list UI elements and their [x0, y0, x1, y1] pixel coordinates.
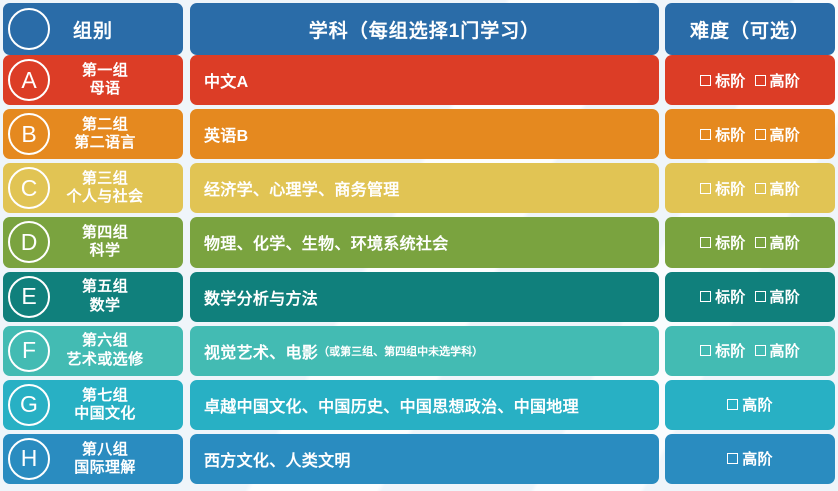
- cell-subject: 中文A: [190, 55, 659, 105]
- cell-difficulty: 标阶高阶: [665, 272, 835, 322]
- cell-difficulty: 标阶高阶: [665, 55, 835, 105]
- difficulty-option-label: 高阶: [770, 178, 800, 199]
- cell-difficulty: 标阶高阶: [665, 163, 835, 213]
- group-letter-badge: G: [8, 384, 50, 426]
- checkbox-empty-icon[interactable]: [700, 291, 711, 302]
- checkbox-empty-icon[interactable]: [727, 399, 738, 410]
- cell-group: D第四组 科学: [3, 217, 183, 267]
- difficulty-option-higher[interactable]: 高阶: [727, 394, 772, 415]
- difficulty-option-higher[interactable]: 高阶: [755, 124, 800, 145]
- difficulty-option-higher[interactable]: 高阶: [755, 70, 800, 91]
- group-letter-badge: B: [8, 113, 50, 155]
- checkbox-empty-icon[interactable]: [727, 453, 738, 464]
- group-letter-badge: E: [8, 276, 50, 318]
- difficulty-option-standard[interactable]: 标阶: [700, 340, 745, 361]
- cell-difficulty: 标阶高阶: [665, 109, 835, 159]
- difficulty-option-label: 标阶: [715, 286, 745, 307]
- cell-group: F第六组 艺术或选修: [3, 326, 183, 376]
- table-row: E第五组 数学数学分析与方法标阶高阶: [3, 272, 835, 322]
- group-letter-badge: F: [8, 330, 50, 372]
- difficulty-option-higher[interactable]: 高阶: [727, 448, 772, 469]
- cell-subject: 视觉艺术、电影（或第三组、第四组中未选学科）: [190, 326, 659, 376]
- checkbox-empty-icon[interactable]: [700, 129, 711, 140]
- cell-group: A第一组 母语: [3, 55, 183, 105]
- header-cell-subject: 学科（每组选择1门学习）: [190, 3, 659, 55]
- subject-label: 西方文化、人类文明: [204, 447, 351, 471]
- group-letter-badge: D: [8, 221, 50, 263]
- cell-difficulty: 标阶高阶: [665, 217, 835, 267]
- subject-label: 数学分析与方法: [204, 285, 318, 309]
- group-name-label: 第五组 数学: [41, 278, 169, 315]
- difficulty-option-label: 高阶: [742, 448, 772, 469]
- header-cell-difficulty: 难度（可选）: [665, 3, 835, 55]
- cell-difficulty: 标阶高阶: [665, 326, 835, 376]
- difficulty-option-standard[interactable]: 标阶: [700, 70, 745, 91]
- group-letter-badge: H: [8, 438, 50, 480]
- cell-subject: 西方文化、人类文明: [190, 434, 659, 484]
- cell-subject: 经济学、心理学、商务管理: [190, 163, 659, 213]
- cell-group: C第三组 个人与社会: [3, 163, 183, 213]
- table-row: D第四组 科学物理、化学、生物、环境系统社会标阶高阶: [3, 217, 835, 267]
- subject-label: 经济学、心理学、商务管理: [204, 176, 400, 200]
- difficulty-option-standard[interactable]: 标阶: [700, 286, 745, 307]
- difficulty-option-label: 高阶: [770, 340, 800, 361]
- difficulty-option-standard[interactable]: 标阶: [700, 178, 745, 199]
- checkbox-empty-icon[interactable]: [755, 291, 766, 302]
- cell-difficulty: 高阶: [665, 434, 835, 484]
- difficulty-option-label: 高阶: [770, 286, 800, 307]
- group-name-label: 第一组 母语: [41, 62, 169, 99]
- group-name-label: 第六组 艺术或选修: [41, 332, 169, 369]
- ib-subject-groups-table: 组别 学科（每组选择1门学习） 难度（可选） A第一组 母语中文A标阶高阶B第二…: [0, 0, 838, 491]
- checkbox-empty-icon[interactable]: [755, 183, 766, 194]
- difficulty-option-label: 标阶: [715, 232, 745, 253]
- subject-label: 英语B: [204, 122, 248, 146]
- difficulty-option-label: 高阶: [770, 124, 800, 145]
- cell-group: H第八组 国际理解: [3, 434, 183, 484]
- table-row: H第八组 国际理解西方文化、人类文明高阶: [3, 434, 835, 484]
- group-name-label: 第七组 中国文化: [41, 387, 169, 424]
- group-letter-badge: A: [8, 59, 50, 101]
- subject-label: 视觉艺术、电影: [204, 339, 318, 363]
- difficulty-option-label: 标阶: [715, 340, 745, 361]
- table-row: B第二组 第二语言英语B标阶高阶: [3, 109, 835, 159]
- difficulty-option-label: 标阶: [715, 70, 745, 91]
- checkbox-empty-icon[interactable]: [700, 183, 711, 194]
- table-row: C第三组 个人与社会经济学、心理学、商务管理标阶高阶: [3, 163, 835, 213]
- header-label-difficulty: 难度（可选）: [665, 16, 835, 43]
- checkbox-empty-icon[interactable]: [755, 237, 766, 248]
- checkbox-empty-icon[interactable]: [700, 237, 711, 248]
- checkbox-empty-icon[interactable]: [755, 129, 766, 140]
- difficulty-option-higher[interactable]: 高阶: [755, 178, 800, 199]
- table-row: F第六组 艺术或选修视觉艺术、电影（或第三组、第四组中未选学科）标阶高阶: [3, 326, 835, 376]
- cell-subject: 卓越中国文化、中国历史、中国思想政治、中国地理: [190, 380, 659, 430]
- cell-subject: 英语B: [190, 109, 659, 159]
- header-label-subject: 学科（每组选择1门学习）: [190, 16, 659, 43]
- checkbox-empty-icon[interactable]: [700, 75, 711, 86]
- header-cell-group: 组别: [3, 3, 183, 55]
- group-letter-badge: C: [8, 167, 50, 209]
- difficulty-option-higher[interactable]: 高阶: [755, 232, 800, 253]
- checkbox-empty-icon[interactable]: [700, 345, 711, 356]
- difficulty-option-label: 标阶: [715, 124, 745, 145]
- difficulty-option-higher[interactable]: 高阶: [755, 340, 800, 361]
- cell-subject: 物理、化学、生物、环境系统社会: [190, 217, 659, 267]
- checkbox-empty-icon[interactable]: [755, 345, 766, 356]
- checkbox-empty-icon[interactable]: [755, 75, 766, 86]
- subject-note-label: （或第三组、第四组中未选学科）: [318, 343, 483, 359]
- subject-label: 卓越中国文化、中国历史、中国思想政治、中国地理: [204, 393, 579, 417]
- cell-group: B第二组 第二语言: [3, 109, 183, 159]
- difficulty-option-higher[interactable]: 高阶: [755, 286, 800, 307]
- difficulty-option-label: 高阶: [770, 232, 800, 253]
- difficulty-option-label: 高阶: [742, 394, 772, 415]
- difficulty-option-label: 高阶: [770, 70, 800, 91]
- subject-label: 物理、化学、生物、环境系统社会: [204, 230, 449, 254]
- cell-group: G第七组 中国文化: [3, 380, 183, 430]
- difficulty-option-standard[interactable]: 标阶: [700, 124, 745, 145]
- cell-difficulty: 高阶: [665, 380, 835, 430]
- difficulty-option-label: 标阶: [715, 178, 745, 199]
- cell-group: E第五组 数学: [3, 272, 183, 322]
- group-name-label: 第三组 个人与社会: [41, 170, 169, 207]
- group-name-label: 第八组 国际理解: [41, 441, 169, 478]
- group-name-label: 第二组 第二语言: [41, 116, 169, 153]
- subject-label: 中文A: [204, 68, 248, 92]
- header-circle-icon: [8, 8, 50, 50]
- table-row: A第一组 母语中文A标阶高阶: [3, 55, 835, 105]
- difficulty-option-standard[interactable]: 标阶: [700, 232, 745, 253]
- table-row: G第七组 中国文化卓越中国文化、中国历史、中国思想政治、中国地理高阶: [3, 380, 835, 430]
- table-header-row: 组别 学科（每组选择1门学习） 难度（可选）: [3, 3, 835, 55]
- cell-subject: 数学分析与方法: [190, 272, 659, 322]
- group-name-label: 第四组 科学: [41, 224, 169, 261]
